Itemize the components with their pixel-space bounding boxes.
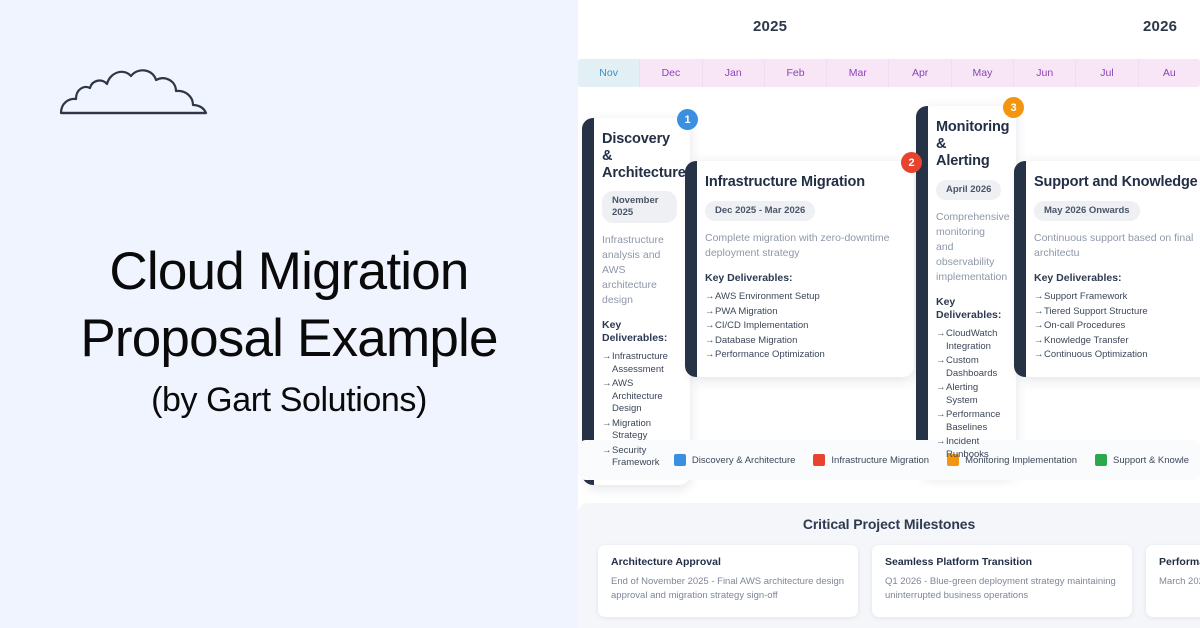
phase-description: Comprehensive monitoring and observabili…: [936, 210, 1003, 285]
legend-item-discovery[interactable]: Discovery & Architecture: [674, 454, 795, 466]
milestone-description: Q1 2026 - Blue-green deployment strategy…: [885, 575, 1119, 602]
deliverables-list: Support Framework Tiered Support Structu…: [1034, 291, 1200, 362]
deliverable-item: AWS Environment Setup: [705, 291, 901, 304]
phase-description: Continuous support based on final archit…: [1034, 231, 1200, 261]
phase-badge-3: 3: [1003, 97, 1024, 118]
phase-cards: 1 Discovery & Architecture November 2025…: [578, 98, 1200, 428]
phase-card-1[interactable]: 1 Discovery & Architecture November 2025…: [587, 118, 690, 485]
deliverables-heading: Key Deliverables:: [705, 272, 901, 285]
milestones-heading: Critical Project Milestones: [578, 516, 1200, 532]
month-cell[interactable]: Jun: [1014, 59, 1076, 87]
legend-swatch-icon: [1095, 454, 1107, 466]
milestone-title: Architecture Approval: [611, 556, 845, 569]
timeline-panel: 2025 2026 Nov Dec Jan Feb Mar Apr May Ju…: [578, 0, 1200, 628]
month-cell[interactable]: May: [952, 59, 1014, 87]
month-cell[interactable]: Nov: [578, 59, 640, 87]
milestone-card[interactable]: Performance Valid March 2026 - Complete …: [1146, 545, 1200, 617]
deliverable-item: Custom Dashboards: [936, 355, 1003, 380]
legend-item-support[interactable]: Support & Knowle: [1095, 454, 1189, 466]
deliverable-item: Alerting System: [936, 382, 1003, 407]
deliverable-item: Support Framework: [1034, 291, 1200, 304]
phase-date-pill: November 2025: [602, 191, 677, 223]
milestone-card[interactable]: Seamless Platform Transition Q1 2026 - B…: [872, 545, 1132, 617]
milestones-section: Critical Project Milestones Architecture…: [578, 503, 1200, 628]
year-labels: 2025 2026: [578, 18, 1200, 46]
deliverable-item: AWS Architecture Design: [602, 378, 677, 416]
phase-title: Discovery & Architecture: [602, 131, 677, 182]
phase-card-3[interactable]: 3 Monitoring & Alerting April 2026 Compr…: [921, 106, 1016, 476]
legend-label: Infrastructure Migration: [831, 455, 929, 466]
deliverables-list: Infrastructure Assessment AWS Architectu…: [602, 351, 677, 470]
page-subtitle: (by Gart Solutions): [0, 376, 578, 424]
phase-date-pill: April 2026: [936, 180, 1001, 200]
phase-badge-2: 2: [901, 152, 922, 173]
month-cell[interactable]: Apr: [889, 59, 951, 87]
deliverables-list: CloudWatch Integration Custom Dashboards…: [936, 328, 1003, 461]
phase-card-2[interactable]: 2 Infrastructure Migration Dec 2025 - Ma…: [690, 161, 914, 377]
phase-card-4[interactable]: Support and Knowledge Sha May 2026 Onwar…: [1019, 161, 1200, 377]
deliverable-item: Migration Strategy: [602, 418, 677, 443]
legend-item-migration[interactable]: Infrastructure Migration: [813, 454, 929, 466]
phase-title: Infrastructure Migration: [705, 174, 901, 191]
year-label: 2025: [753, 18, 787, 35]
month-cell[interactable]: Feb: [765, 59, 827, 87]
phase-date-pill: May 2026 Onwards: [1034, 201, 1140, 221]
deliverable-item: Infrastructure Assessment: [602, 351, 677, 376]
legend-label: Discovery & Architecture: [692, 455, 795, 466]
deliverables-heading: Key Deliverables:: [936, 296, 1003, 322]
legend-label: Support & Knowle: [1113, 455, 1189, 466]
phase-date-pill: Dec 2025 - Mar 2026: [705, 201, 815, 221]
phase-badge-1: 1: [677, 109, 698, 130]
deliverable-item: Knowledge Transfer: [1034, 335, 1200, 348]
deliverable-item: Security Framework: [602, 445, 677, 470]
month-cell[interactable]: Jul: [1076, 59, 1138, 87]
milestone-title: Seamless Platform Transition: [885, 556, 1119, 569]
deliverable-item: PWA Migration: [705, 306, 901, 319]
phase-description: Infrastructure analysis and AWS architec…: [602, 233, 677, 308]
milestone-description: March 2026 - Complete optimization valid…: [1159, 575, 1200, 589]
milestone-card[interactable]: Architecture Approval End of November 20…: [598, 545, 858, 617]
card-accent-bar: [1014, 161, 1026, 377]
month-strip: Nov Dec Jan Feb Mar Apr May Jun Jul Au: [578, 59, 1200, 87]
month-cell[interactable]: Jan: [703, 59, 765, 87]
month-cell[interactable]: Au: [1139, 59, 1200, 87]
deliverables-heading: Key Deliverables:: [1034, 272, 1200, 285]
deliverable-item: Performance Optimization: [705, 349, 901, 362]
deliverable-item: Continuous Optimization: [1034, 349, 1200, 362]
poster-root: Cloud Migration Proposal Example (by Gar…: [0, 0, 1200, 628]
title-line-2: Proposal Example: [0, 305, 578, 372]
deliverable-item: Incident Runbooks: [936, 436, 1003, 461]
card-accent-bar: [685, 161, 697, 377]
left-panel: Cloud Migration Proposal Example (by Gar…: [0, 0, 578, 628]
cloud-outline-icon: [58, 58, 228, 123]
card-accent-bar: [582, 118, 594, 485]
deliverables-heading: Key Deliverables:: [602, 319, 677, 345]
legend-swatch-icon: [813, 454, 825, 466]
deliverable-item: Tiered Support Structure: [1034, 306, 1200, 319]
title-line-1: Cloud Migration: [0, 238, 578, 305]
year-label: 2026: [1143, 18, 1177, 35]
milestone-title: Performance Valid: [1159, 556, 1200, 569]
month-cell[interactable]: Dec: [640, 59, 702, 87]
month-cell[interactable]: Mar: [827, 59, 889, 87]
milestones-row: Architecture Approval End of November 20…: [578, 545, 1200, 617]
deliverable-item: CI/CD Implementation: [705, 320, 901, 333]
deliverable-item: On-call Procedures: [1034, 320, 1200, 333]
phase-description: Complete migration with zero-downtime de…: [705, 231, 901, 261]
phase-title: Support and Knowledge Sha: [1034, 174, 1200, 191]
deliverable-item: Database Migration: [705, 335, 901, 348]
deliverable-item: CloudWatch Integration: [936, 328, 1003, 353]
deliverables-list: AWS Environment Setup PWA Migration CI/C…: [705, 291, 901, 362]
deliverable-item: Performance Baselines: [936, 409, 1003, 434]
page-title: Cloud Migration Proposal Example (by Gar…: [0, 238, 578, 424]
phase-title: Monitoring & Alerting: [936, 119, 1003, 170]
milestone-description: End of November 2025 - Final AWS archite…: [611, 575, 845, 602]
